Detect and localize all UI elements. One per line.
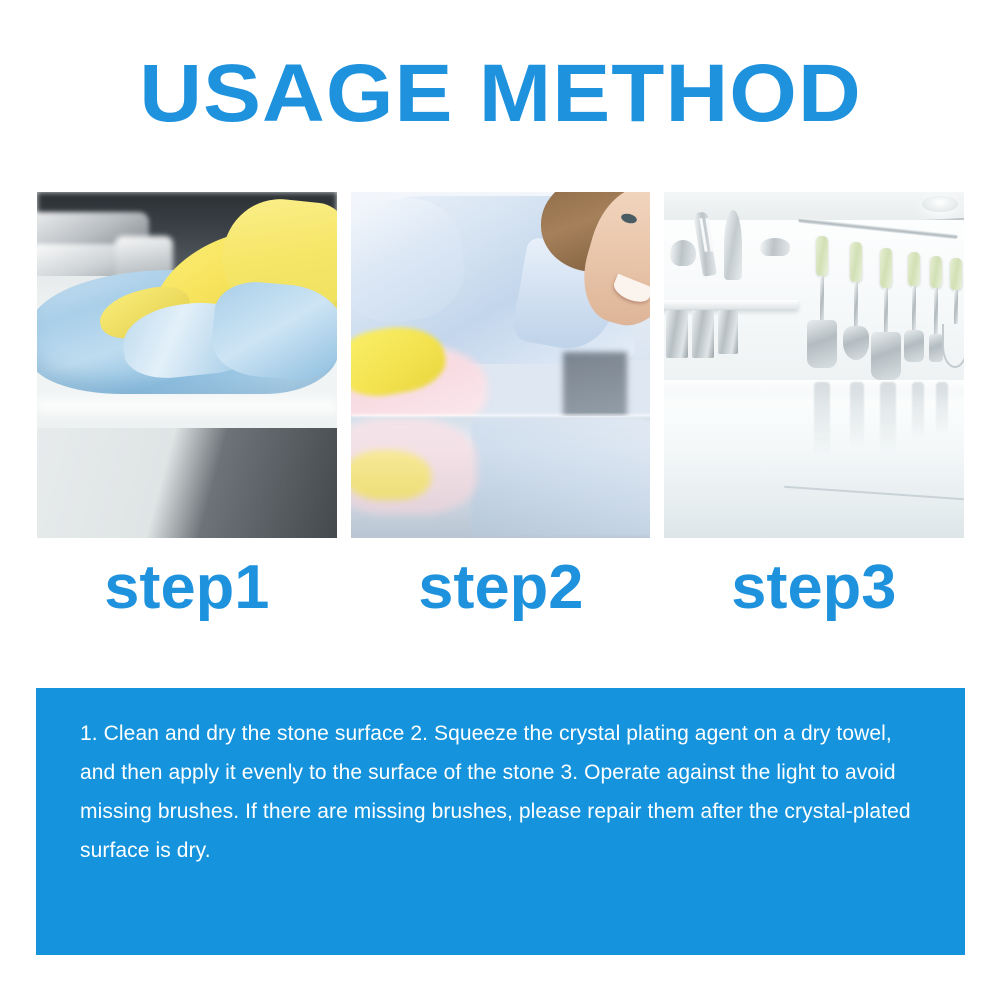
utensil-shaft [912, 286, 916, 330]
utensil-holder [718, 310, 738, 354]
utensil-holder [692, 310, 714, 358]
ladle-icon [670, 240, 696, 266]
utensil-shaft [884, 288, 888, 336]
utensil-handle [908, 252, 920, 286]
infographic-page: USAGE METHOD [0, 0, 1001, 1001]
utensil-reflection [936, 382, 948, 436]
step-label-1: step1 [34, 552, 340, 632]
skimmer-icon [760, 238, 790, 256]
reflection-glove [351, 450, 431, 500]
tongs-head [904, 330, 924, 362]
wall-shelf [664, 300, 798, 309]
utensil-shaft [954, 290, 958, 324]
utensil-shaft [854, 282, 858, 330]
instructions-text: 1. Clean and dry the stone surface 2. Sq… [80, 714, 921, 870]
step2-photo [351, 192, 651, 538]
utensil-handle [950, 258, 962, 290]
whisk-head [942, 324, 964, 368]
utensil-handle [850, 242, 862, 282]
utensil-holder [666, 310, 688, 358]
utensil-shaft [820, 276, 824, 324]
turner-head [871, 332, 901, 380]
page-title: USAGE METHOD [0, 52, 1001, 136]
shadow-patch [563, 352, 627, 422]
utensil-reflection [814, 382, 830, 456]
whisk-icon [724, 210, 742, 280]
counter-edge [37, 428, 337, 538]
utensil-handle [930, 256, 942, 288]
utensil-shaft [934, 288, 938, 334]
step1-photo [37, 192, 337, 538]
step3-photo [664, 192, 964, 538]
reflection-edge [351, 414, 651, 417]
utensil-reflection [850, 382, 864, 448]
reflection-shirt [471, 418, 651, 536]
utensil-reflection [880, 382, 896, 452]
step-label-2: step2 [348, 552, 654, 632]
utensil-handle [816, 236, 828, 276]
step-label-row: step1 step2 step3 [37, 552, 964, 632]
utensil-reflection [912, 382, 924, 440]
fork-head [929, 334, 943, 362]
spatula-head [807, 320, 837, 368]
instructions-box: 1. Clean and dry the stone surface 2. Sq… [36, 688, 965, 955]
step-image-row [37, 192, 964, 538]
utensil-handle [880, 248, 892, 288]
step-label-3: step3 [661, 552, 967, 632]
